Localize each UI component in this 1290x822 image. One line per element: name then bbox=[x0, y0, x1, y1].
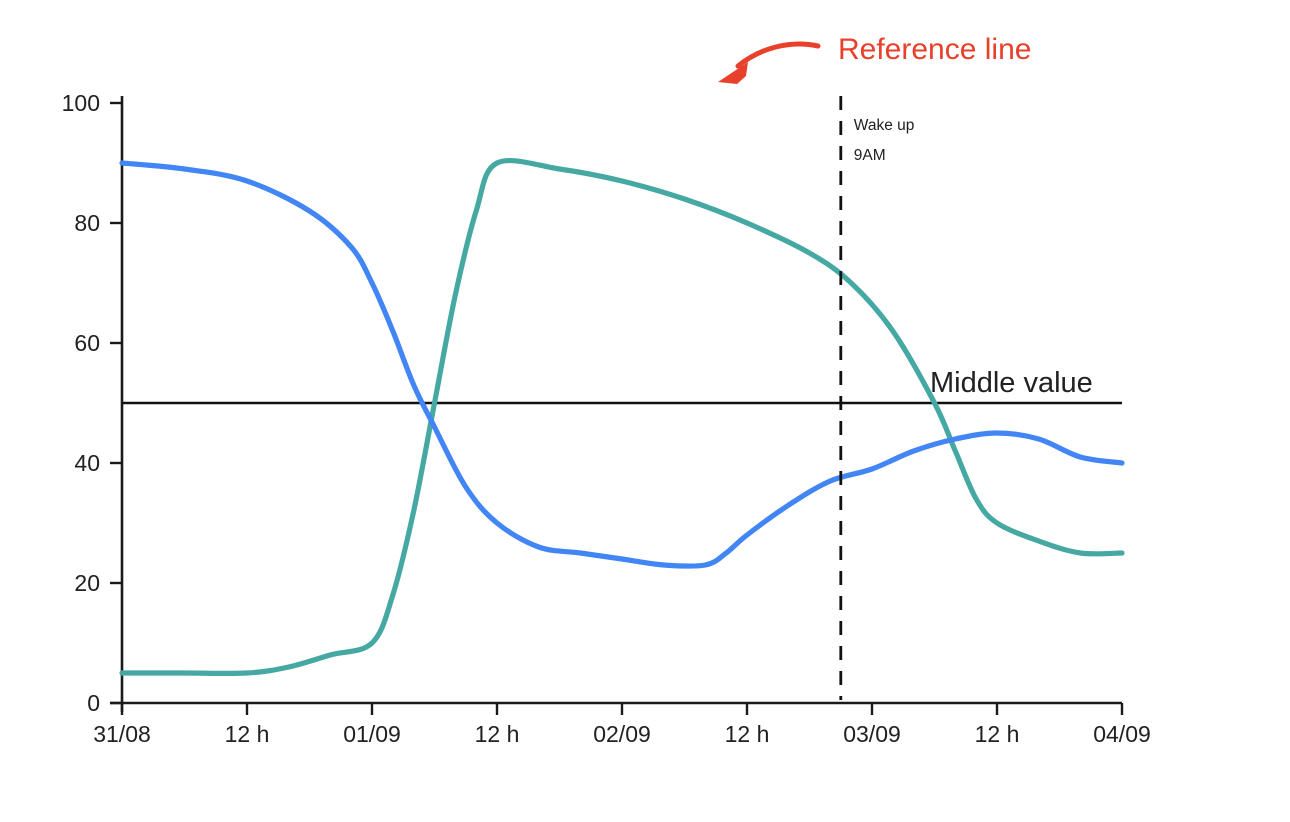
x-axis-tick-labels: 31/08 12 h 01/09 12 h 02/09 12 h 03/09 1… bbox=[93, 721, 1151, 747]
x-tick-label-6: 03/09 bbox=[843, 721, 901, 747]
x-tick-label-3: 12 h bbox=[475, 721, 520, 747]
y-tick-label-100: 100 bbox=[62, 90, 100, 116]
chart-container: 0 20 40 60 80 100 31/08 12 bbox=[0, 0, 1290, 822]
x-tick-label-7: 12 h bbox=[975, 721, 1020, 747]
callout-arrow-head-icon bbox=[718, 62, 748, 84]
line-chart: 0 20 40 60 80 100 31/08 12 bbox=[0, 0, 1290, 822]
reference-line-callout-label: Reference line bbox=[838, 33, 1031, 66]
x-tick-label-8: 04/09 bbox=[1093, 721, 1151, 747]
axes-group: 0 20 40 60 80 100 31/08 12 bbox=[62, 90, 1151, 747]
blue-series-line bbox=[122, 163, 1122, 566]
wake-up-reference-annotation: Wake up 9AM bbox=[841, 96, 915, 700]
x-tick-label-1: 12 h bbox=[225, 721, 270, 747]
y-tick-label-20: 20 bbox=[74, 570, 100, 596]
x-tick-label-2: 01/09 bbox=[343, 721, 401, 747]
teal-series-line bbox=[122, 161, 1122, 674]
x-tick-label-5: 12 h bbox=[725, 721, 770, 747]
x-tick-label-4: 02/09 bbox=[593, 721, 651, 747]
reference-note-line2: 9AM bbox=[854, 147, 886, 164]
y-tick-label-40: 40 bbox=[74, 450, 100, 476]
reference-note-line1: Wake up bbox=[854, 117, 915, 134]
y-tick-label-80: 80 bbox=[74, 210, 100, 236]
x-tick-label-0: 31/08 bbox=[93, 721, 151, 747]
middle-value-label: Middle value bbox=[930, 367, 1093, 399]
reference-line-callout: Reference line bbox=[718, 33, 1031, 84]
x-axis-ticks bbox=[122, 703, 1122, 715]
y-tick-label-0: 0 bbox=[87, 690, 100, 716]
series-group bbox=[122, 161, 1122, 674]
y-axis-tick-labels: 0 20 40 60 80 100 bbox=[62, 90, 100, 716]
y-axis-ticks bbox=[110, 103, 122, 703]
y-tick-label-60: 60 bbox=[74, 330, 100, 356]
middle-value-annotation: Middle value bbox=[122, 367, 1122, 403]
callout-arrow-curve bbox=[738, 44, 818, 66]
